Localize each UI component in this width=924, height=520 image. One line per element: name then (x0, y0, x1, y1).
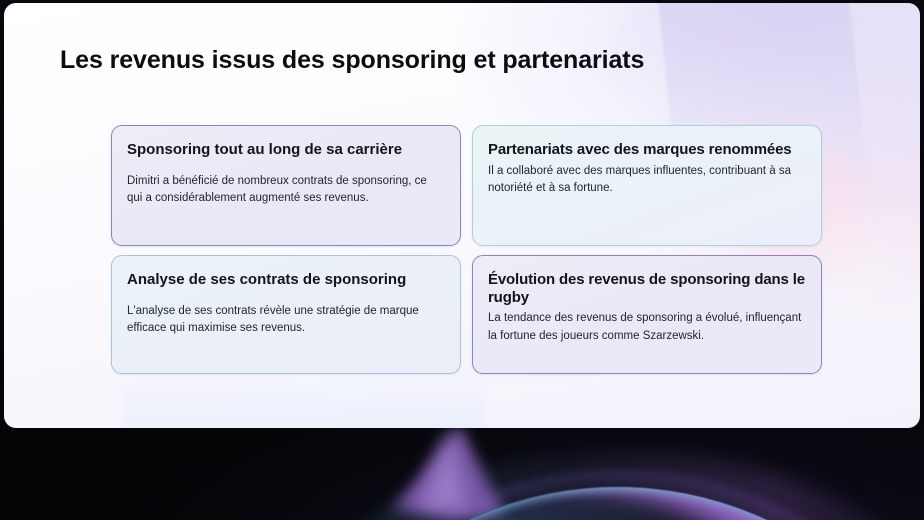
card-body: Il a collaboré avec des marques influent… (488, 163, 806, 198)
slide-root: Les revenus issus des sponsoring et part… (0, 0, 924, 520)
card-title: Partenariats avec des marques renommées (488, 141, 806, 159)
card-title: Analyse de ses contrats de sponsoring (127, 271, 445, 289)
card-analyse-contrats[interactable]: Analyse de ses contrats de sponsoring L'… (111, 255, 461, 374)
card-evolution-revenus-rugby[interactable]: Évolution des revenus de sponsoring dans… (472, 255, 822, 374)
card-row-2: Analyse de ses contrats de sponsoring L'… (111, 255, 822, 374)
card-body: La tendance des revenus de sponsoring a … (488, 310, 806, 345)
card-title: Sponsoring tout au long de sa carrière (127, 141, 445, 159)
card-body: L'analyse de ses contrats révèle une str… (127, 303, 445, 338)
card-sponsoring-carriere[interactable]: Sponsoring tout au long de sa carrière D… (111, 125, 461, 246)
card-partenariats-marques[interactable]: Partenariats avec des marques renommées … (472, 125, 822, 246)
page-title: Les revenus issus des sponsoring et part… (60, 46, 644, 75)
card-title: Évolution des revenus de sponsoring dans… (488, 271, 806, 306)
card-row-1: Sponsoring tout au long de sa carrière D… (111, 125, 822, 246)
content-panel: Les revenus issus des sponsoring et part… (4, 3, 920, 428)
card-body: Dimitri a bénéficié de nombreux contrats… (127, 173, 445, 208)
card-grid: Sponsoring tout au long de sa carrière D… (111, 125, 822, 374)
